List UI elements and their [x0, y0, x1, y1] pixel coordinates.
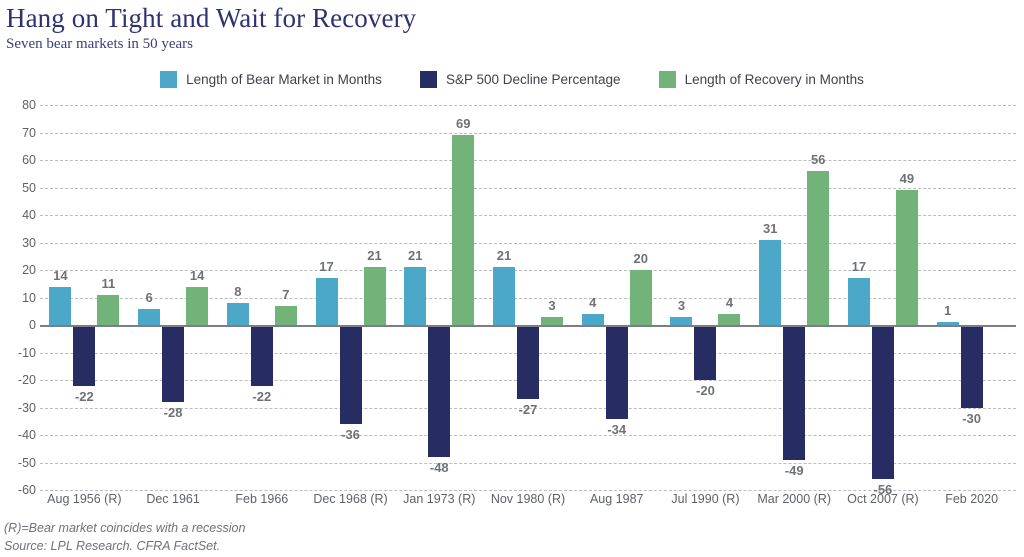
bar-group-7: 3-204 [670, 105, 740, 490]
y-tick-label-0: 0 [2, 318, 36, 332]
x-tick-label-6: Aug 1987 [590, 492, 644, 506]
bar-value-label-1-0: 6 [129, 290, 169, 305]
legend-item-1[interactable]: S&P 500 Decline Percentage [420, 71, 621, 88]
bar-3-1[interactable] [340, 325, 362, 424]
bar-7-1[interactable] [694, 325, 716, 380]
y-tick-label--10: -10 [2, 346, 36, 360]
bar-group-0: 14-2211 [49, 105, 119, 490]
y-tick-label-60: 60 [2, 153, 36, 167]
bar-group-5: 21-273 [493, 105, 563, 490]
bar-7-2[interactable] [718, 314, 740, 325]
x-tick-label-7: Jul 1990 (R) [671, 492, 739, 506]
bar-value-label-2-0: 8 [218, 284, 258, 299]
footnote-recession: (R)=Bear market coincides with a recessi… [4, 519, 245, 537]
bar-3-2[interactable] [364, 267, 386, 325]
bar-4-0[interactable] [404, 267, 426, 325]
bar-value-label-7-0: 3 [661, 298, 701, 313]
bar-8-2[interactable] [807, 171, 829, 325]
bar-10-1[interactable] [961, 325, 983, 408]
bar-value-label-3-0: 17 [307, 259, 347, 274]
bar-9-2[interactable] [896, 190, 918, 325]
y-tick-label--50: -50 [2, 456, 36, 470]
bar-group-8: 31-4956 [759, 105, 829, 490]
bar-value-label-6-1: -34 [597, 422, 637, 437]
bar-value-label-10-0: 1 [928, 303, 968, 318]
bar-value-label-0-1: -22 [64, 389, 104, 404]
bar-value-label-8-0: 31 [750, 221, 790, 236]
x-tick-label-4: Jan 1973 (R) [403, 492, 475, 506]
footnotes: (R)=Bear market coincides with a recessi… [4, 519, 245, 555]
bar-value-label-2-1: -22 [242, 389, 282, 404]
bar-value-label-4-0: 21 [395, 248, 435, 263]
bar-value-label-4-1: -48 [419, 460, 459, 475]
x-tick-label-0: Aug 1956 (R) [47, 492, 121, 506]
bar-value-label-1-1: -28 [153, 405, 193, 420]
bar-6-2[interactable] [630, 270, 652, 325]
bar-value-label-5-0: 21 [484, 248, 524, 263]
bar-value-label-5-2: 3 [532, 298, 572, 313]
bar-4-2[interactable] [452, 135, 474, 325]
bar-5-0[interactable] [493, 267, 515, 325]
y-tick-label--40: -40 [2, 428, 36, 442]
chart-legend: Length of Bear Market in MonthsS&P 500 D… [0, 71, 1024, 88]
bar-value-label-0-0: 14 [40, 268, 80, 283]
x-axis: Aug 1956 (R)Dec 1961Feb 1966Dec 1968 (R)… [40, 492, 1016, 512]
bar-2-0[interactable] [227, 303, 249, 325]
y-tick-label--30: -30 [2, 401, 36, 415]
y-axis: 80706050403020100-10-20-30-40-50-60 [0, 105, 36, 490]
bar-value-label-2-2: 7 [266, 287, 306, 302]
legend-label-2: Length of Recovery in Months [685, 72, 864, 87]
bar-value-label-5-1: -27 [508, 402, 548, 417]
bar-1-2[interactable] [186, 287, 208, 326]
bar-value-label-9-0: 17 [839, 259, 879, 274]
bar-8-1[interactable] [783, 325, 805, 460]
page-title: Hang on Tight and Wait for Recovery [6, 4, 416, 33]
y-tick-label-50: 50 [2, 181, 36, 195]
bar-7-0[interactable] [670, 317, 692, 325]
bar-0-0[interactable] [49, 287, 71, 326]
y-tick-label-40: 40 [2, 208, 36, 222]
bar-value-label-8-2: 56 [798, 152, 838, 167]
bar-9-0[interactable] [848, 278, 870, 325]
bar-group-10: 1-30 [937, 105, 1007, 490]
bar-group-6: 4-3420 [582, 105, 652, 490]
legend-item-0[interactable]: Length of Bear Market in Months [160, 71, 382, 88]
bar-value-label-1-2: 14 [177, 268, 217, 283]
legend-swatch-recovery-icon [659, 71, 676, 88]
y-tick-label--60: -60 [2, 483, 36, 497]
bar-0-2[interactable] [97, 295, 119, 325]
bar-3-0[interactable] [316, 278, 338, 325]
bar-5-1[interactable] [517, 325, 539, 399]
x-tick-label-3: Dec 1968 (R) [313, 492, 387, 506]
legend-label-0: Length of Bear Market in Months [186, 72, 382, 87]
zero-baseline [40, 325, 1016, 327]
bar-4-1[interactable] [428, 325, 450, 457]
y-tick-label-30: 30 [2, 236, 36, 250]
bar-1-0[interactable] [138, 309, 160, 326]
y-tick-label--20: -20 [2, 373, 36, 387]
bar-value-label-8-1: -49 [774, 463, 814, 478]
bar-group-4: 21-4869 [404, 105, 474, 490]
bar-value-label-6-0: 4 [573, 295, 613, 310]
y-tick-label-70: 70 [2, 126, 36, 140]
bar-group-1: 6-2814 [138, 105, 208, 490]
bar-group-2: 8-227 [227, 105, 297, 490]
bar-6-1[interactable] [606, 325, 628, 419]
bar-value-label-10-1: -30 [952, 411, 992, 426]
bar-value-label-9-2: 49 [887, 171, 927, 186]
x-tick-label-5: Nov 1980 (R) [491, 492, 565, 506]
x-tick-label-1: Dec 1961 [146, 492, 200, 506]
bar-group-3: 17-3621 [316, 105, 386, 490]
footnote-source: Source: LPL Research. CFRA FactSet. [4, 537, 245, 555]
bar-value-label-7-1: -20 [685, 383, 725, 398]
x-tick-label-8: Mar 2000 (R) [757, 492, 831, 506]
bar-1-1[interactable] [162, 325, 184, 402]
bar-2-1[interactable] [251, 325, 273, 386]
y-tick-label-80: 80 [2, 98, 36, 112]
bar-value-label-3-1: -36 [331, 427, 371, 442]
bar-group-9: 17-5649 [848, 105, 918, 490]
plot-area: 14-22116-28148-22717-362121-486921-2734-… [40, 105, 1016, 490]
bar-9-1[interactable] [872, 325, 894, 479]
bar-6-0[interactable] [582, 314, 604, 325]
x-tick-label-10: Feb 2020 [945, 492, 998, 506]
x-tick-label-9: Oct 2007 (R) [847, 492, 919, 506]
bar-value-label-3-2: 21 [355, 248, 395, 263]
bar-2-2[interactable] [275, 306, 297, 325]
bar-value-label-4-2: 69 [443, 116, 483, 131]
legend-swatch-decline-icon [420, 71, 437, 88]
bar-5-2[interactable] [541, 317, 563, 325]
x-tick-label-2: Feb 1966 [235, 492, 288, 506]
bar-value-label-7-2: 4 [709, 295, 749, 310]
bar-value-label-6-2: 20 [621, 251, 661, 266]
chart-header: Hang on Tight and Wait for Recovery Seve… [6, 4, 416, 53]
bar-0-1[interactable] [73, 325, 95, 386]
chart-subtitle: Seven bear markets in 50 years [6, 36, 416, 53]
legend-label-1: S&P 500 Decline Percentage [446, 72, 621, 87]
bar-8-0[interactable] [759, 240, 781, 325]
y-tick-label-10: 10 [2, 291, 36, 305]
y-tick-label-20: 20 [2, 263, 36, 277]
legend-swatch-bear-icon [160, 71, 177, 88]
legend-item-2[interactable]: Length of Recovery in Months [659, 71, 864, 88]
bar-value-label-0-2: 11 [88, 276, 128, 291]
